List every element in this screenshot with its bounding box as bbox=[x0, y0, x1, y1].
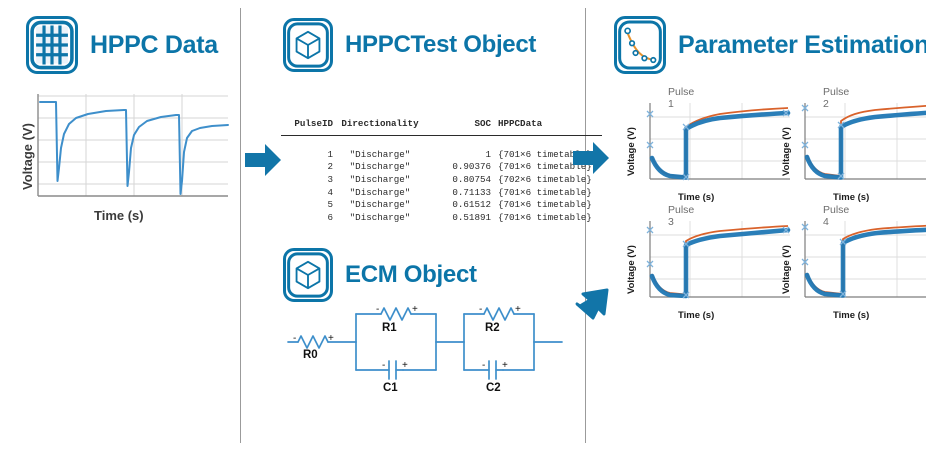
cell-pulseid: 1 bbox=[281, 149, 333, 162]
table-row: 4 "Discharge" 0.71133 {701×6 timetable} bbox=[281, 187, 602, 200]
polarity-minus-r1: - bbox=[376, 304, 379, 315]
pulse-1-ylabel: Voltage (V) bbox=[626, 127, 637, 176]
pulse-1-plot-svg bbox=[642, 101, 792, 189]
cell-pulseid: 4 bbox=[281, 187, 333, 200]
label-r2: R2 bbox=[485, 322, 500, 334]
col-header-pulseid: PulseID bbox=[281, 118, 333, 131]
polarity-minus-r0: - bbox=[293, 333, 296, 344]
pulse-2-plot-svg bbox=[797, 101, 926, 189]
pulse-1-xlabel: Time (s) bbox=[678, 192, 714, 203]
ecm-circuit-diagram: R0 R1 C1 R2 C2 - + - + - + - + - + bbox=[276, 300, 566, 400]
label-r1: R1 bbox=[382, 322, 397, 334]
cell-hppcdata: {701×6 timetable} bbox=[491, 212, 602, 225]
col-header-directionality: Directionality bbox=[333, 118, 427, 131]
table-row: 6 "Discharge" 0.51891 {701×6 timetable} bbox=[281, 212, 602, 225]
cell-soc: 0.90376 bbox=[427, 161, 491, 174]
pulse-4-plot-svg bbox=[797, 219, 926, 307]
table-header-rule bbox=[281, 131, 602, 138]
polarity-minus-r2: - bbox=[479, 304, 482, 315]
label-c1: C1 bbox=[383, 382, 398, 394]
table: PulseID Directionality SOC HPPCData 1 "D… bbox=[281, 118, 602, 224]
arrow-data-to-object bbox=[243, 140, 283, 180]
pulse-4-ylabel: Voltage (V) bbox=[781, 245, 792, 294]
table-spacer bbox=[281, 138, 602, 149]
heading-parameter-estimation: Parameter Estimation bbox=[614, 16, 926, 74]
polarity-plus-r0: + bbox=[328, 333, 334, 344]
pulse-2-ylabel: Voltage (V) bbox=[781, 127, 792, 176]
col-header-hppcdata: HPPCData bbox=[491, 118, 602, 131]
divider-left bbox=[240, 8, 241, 443]
polarity-minus-c2: - bbox=[482, 360, 485, 371]
cube-object-icon bbox=[283, 18, 333, 72]
polarity-plus-c1: + bbox=[402, 360, 408, 371]
heading-ecm-object: ECM Object bbox=[283, 248, 477, 302]
pulse-2-xlabel: Time (s) bbox=[833, 192, 869, 203]
hppc-data-title: HPPC Data bbox=[90, 31, 218, 60]
cell-pulseid: 6 bbox=[281, 212, 333, 225]
cell-pulseid: 2 bbox=[281, 161, 333, 174]
ecm-circuit-svg: R0 R1 C1 R2 C2 - + - + - + - + - + bbox=[276, 300, 566, 395]
cell-soc: 0.61512 bbox=[427, 199, 491, 212]
table-row: 2 "Discharge" 0.90376 {701×6 timetable} bbox=[281, 161, 602, 174]
cell-soc: 1 bbox=[427, 149, 491, 162]
cell-directionality: "Discharge" bbox=[333, 199, 427, 212]
cell-hppcdata: {701×6 timetable} bbox=[491, 199, 602, 212]
cell-soc: 0.71133 bbox=[427, 187, 491, 200]
heading-hppc-data: HPPC Data bbox=[26, 16, 218, 74]
ecm-object-title: ECM Object bbox=[345, 261, 477, 289]
cell-hppcdata: {701×6 timetable} bbox=[491, 187, 602, 200]
table-row: 5 "Discharge" 0.61512 {701×6 timetable} bbox=[281, 199, 602, 212]
table-row: 3 "Discharge" 0.80754 {702×6 timetable} bbox=[281, 174, 602, 187]
cell-directionality: "Discharge" bbox=[333, 187, 427, 200]
polarity-minus-c1: - bbox=[382, 360, 385, 371]
table-body: 1 "Discharge" 1 {701×6 timetable} 2 "Dis… bbox=[281, 149, 602, 225]
cube-object-icon bbox=[283, 248, 333, 302]
arrow-object-to-estimation bbox=[571, 138, 611, 178]
heading-hppctest-object: HPPCTest Object bbox=[283, 18, 536, 72]
polarity-plus-r1: + bbox=[412, 304, 418, 315]
polarity-plus-r2: + bbox=[515, 304, 521, 315]
cell-directionality: "Discharge" bbox=[333, 174, 427, 187]
parameter-estimation-title: Parameter Estimation bbox=[678, 31, 926, 60]
col-header-soc: SOC bbox=[427, 118, 491, 131]
cell-soc: 0.51891 bbox=[427, 212, 491, 225]
scatter-fit-icon bbox=[614, 16, 666, 74]
hppc-voltage-plot-svg bbox=[16, 86, 231, 206]
grid-table-icon bbox=[26, 16, 78, 74]
cell-pulseid: 3 bbox=[281, 174, 333, 187]
hppc-chart-ylabel: Voltage (V) bbox=[20, 123, 35, 190]
polarity-plus-c2: + bbox=[502, 360, 508, 371]
label-r0: R0 bbox=[303, 349, 318, 361]
table-header-row: PulseID Directionality SOC HPPCData bbox=[281, 118, 602, 131]
hppctest-table: PulseID Directionality SOC HPPCData 1 "D… bbox=[281, 93, 602, 237]
cell-soc: 0.80754 bbox=[427, 174, 491, 187]
cell-directionality: "Discharge" bbox=[333, 149, 427, 162]
arrow-ecm-to-estimation bbox=[571, 278, 615, 324]
pulse-4-xlabel: Time (s) bbox=[833, 310, 869, 321]
pulse-3-ylabel: Voltage (V) bbox=[626, 245, 637, 294]
label-c2: C2 bbox=[486, 382, 501, 394]
pulse-3-xlabel: Time (s) bbox=[678, 310, 714, 321]
hppc-voltage-chart: Voltage (V) Time (s) bbox=[16, 86, 231, 211]
hppctest-object-title: HPPCTest Object bbox=[345, 31, 536, 59]
pulse-3-plot-svg bbox=[642, 219, 792, 307]
cell-directionality: "Discharge" bbox=[333, 161, 427, 174]
cell-pulseid: 5 bbox=[281, 199, 333, 212]
cell-directionality: "Discharge" bbox=[333, 212, 427, 225]
hppc-chart-xlabel: Time (s) bbox=[94, 208, 144, 223]
table-row: 1 "Discharge" 1 {701×6 timetable} bbox=[281, 149, 602, 162]
